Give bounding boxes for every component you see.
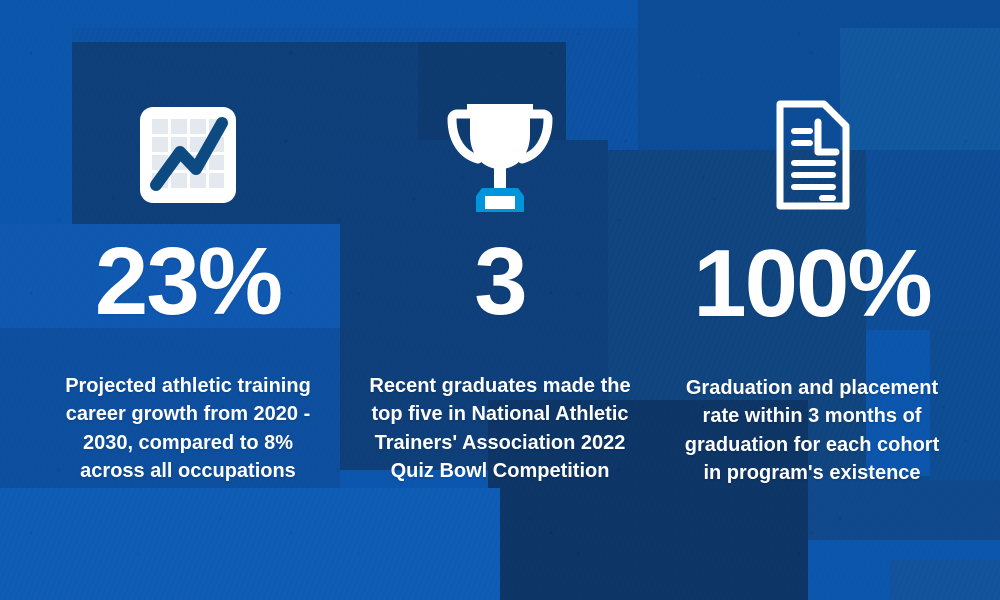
stat-caption: Graduation and placement rate within 3 m…	[681, 374, 943, 488]
stat-value: 100%	[693, 236, 931, 332]
stats-row: 23% Projected athletic training career g…	[0, 0, 1000, 600]
stat-value: 23%	[95, 234, 281, 330]
chart-line-icon	[136, 96, 240, 214]
stat-card-graduation-rate: 100% Graduation and placement rate withi…	[656, 96, 968, 488]
document-icon	[762, 96, 862, 214]
stat-value: 3	[474, 234, 525, 330]
stat-card-career-growth: 23% Projected athletic training career g…	[32, 96, 344, 486]
stat-caption: Projected athletic training career growt…	[54, 372, 322, 486]
stat-card-quiz-bowl: 3 Recent graduates made the top five in …	[344, 96, 656, 486]
stat-caption: Recent graduates made the top five in Na…	[360, 372, 640, 486]
trophy-icon	[445, 96, 555, 214]
infographic-root: 23% Projected athletic training career g…	[0, 0, 1000, 600]
